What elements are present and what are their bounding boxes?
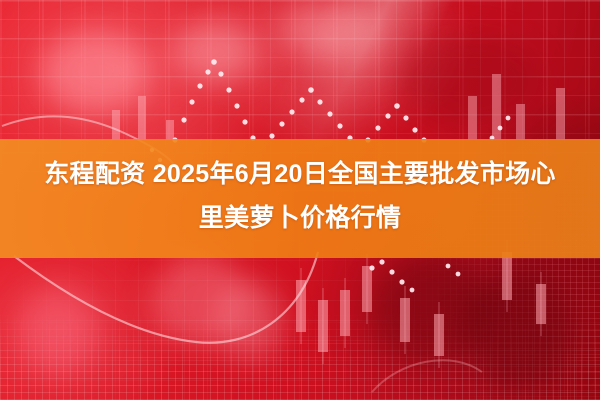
page-title-line-1: 东程配资 2025年6月20日全国主要批发市场心: [0, 152, 600, 196]
page-title-line-2: 里美萝卜价格行情: [0, 196, 600, 240]
u-curve-lower-left: [14, 252, 318, 343]
financial-news-banner: 东程配资 2025年6月20日全国主要批发市场心 里美萝卜价格行情: [0, 0, 600, 400]
page-title: 东程配资 2025年6月20日全国主要批发市场心 里美萝卜价格行情: [0, 152, 600, 240]
arc-curve-bottom: [372, 360, 482, 392]
